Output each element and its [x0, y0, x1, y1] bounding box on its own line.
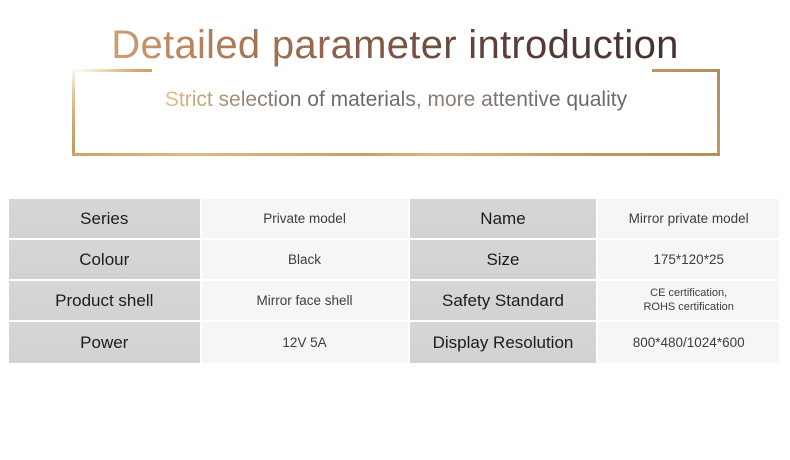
table-row: Colour Black Size 175*120*25: [9, 240, 781, 281]
spec-value-safety-standard: CE certification, ROHS certification: [598, 281, 781, 322]
spec-value-display-resolution: 800*480/1024*600: [598, 322, 781, 363]
header-block: Detailed parameter introduction Strict s…: [0, 0, 790, 185]
table-row: Product shell Mirror face shell Safety S…: [9, 281, 781, 322]
spec-value-name: Mirror private model: [598, 199, 781, 240]
table-row: Series Private model Name Mirror private…: [9, 199, 781, 240]
table-row: Power 12V 5A Display Resolution 800*480/…: [9, 322, 781, 363]
spec-label-power: Power: [9, 322, 202, 363]
page-subtitle: Strict selection of materials, more atte…: [72, 85, 720, 115]
spec-label-colour: Colour: [9, 240, 202, 281]
page-title: Detailed parameter introduction: [0, 20, 790, 70]
frame-edge-bottom: [72, 153, 720, 156]
spec-value-colour: Black: [202, 240, 410, 281]
spec-label-series: Series: [9, 199, 202, 240]
spec-value-size: 175*120*25: [598, 240, 781, 281]
spec-label-safety-standard: Safety Standard: [410, 281, 599, 322]
spec-label-display-resolution: Display Resolution: [410, 322, 599, 363]
spec-value-power: 12V 5A: [202, 322, 410, 363]
spec-value-product-shell: Mirror face shell: [202, 281, 410, 322]
spec-value-series: Private model: [202, 199, 410, 240]
spec-label-name: Name: [410, 199, 599, 240]
spec-label-size: Size: [410, 240, 599, 281]
specification-table: Series Private model Name Mirror private…: [9, 199, 781, 363]
spec-label-product-shell: Product shell: [9, 281, 202, 322]
